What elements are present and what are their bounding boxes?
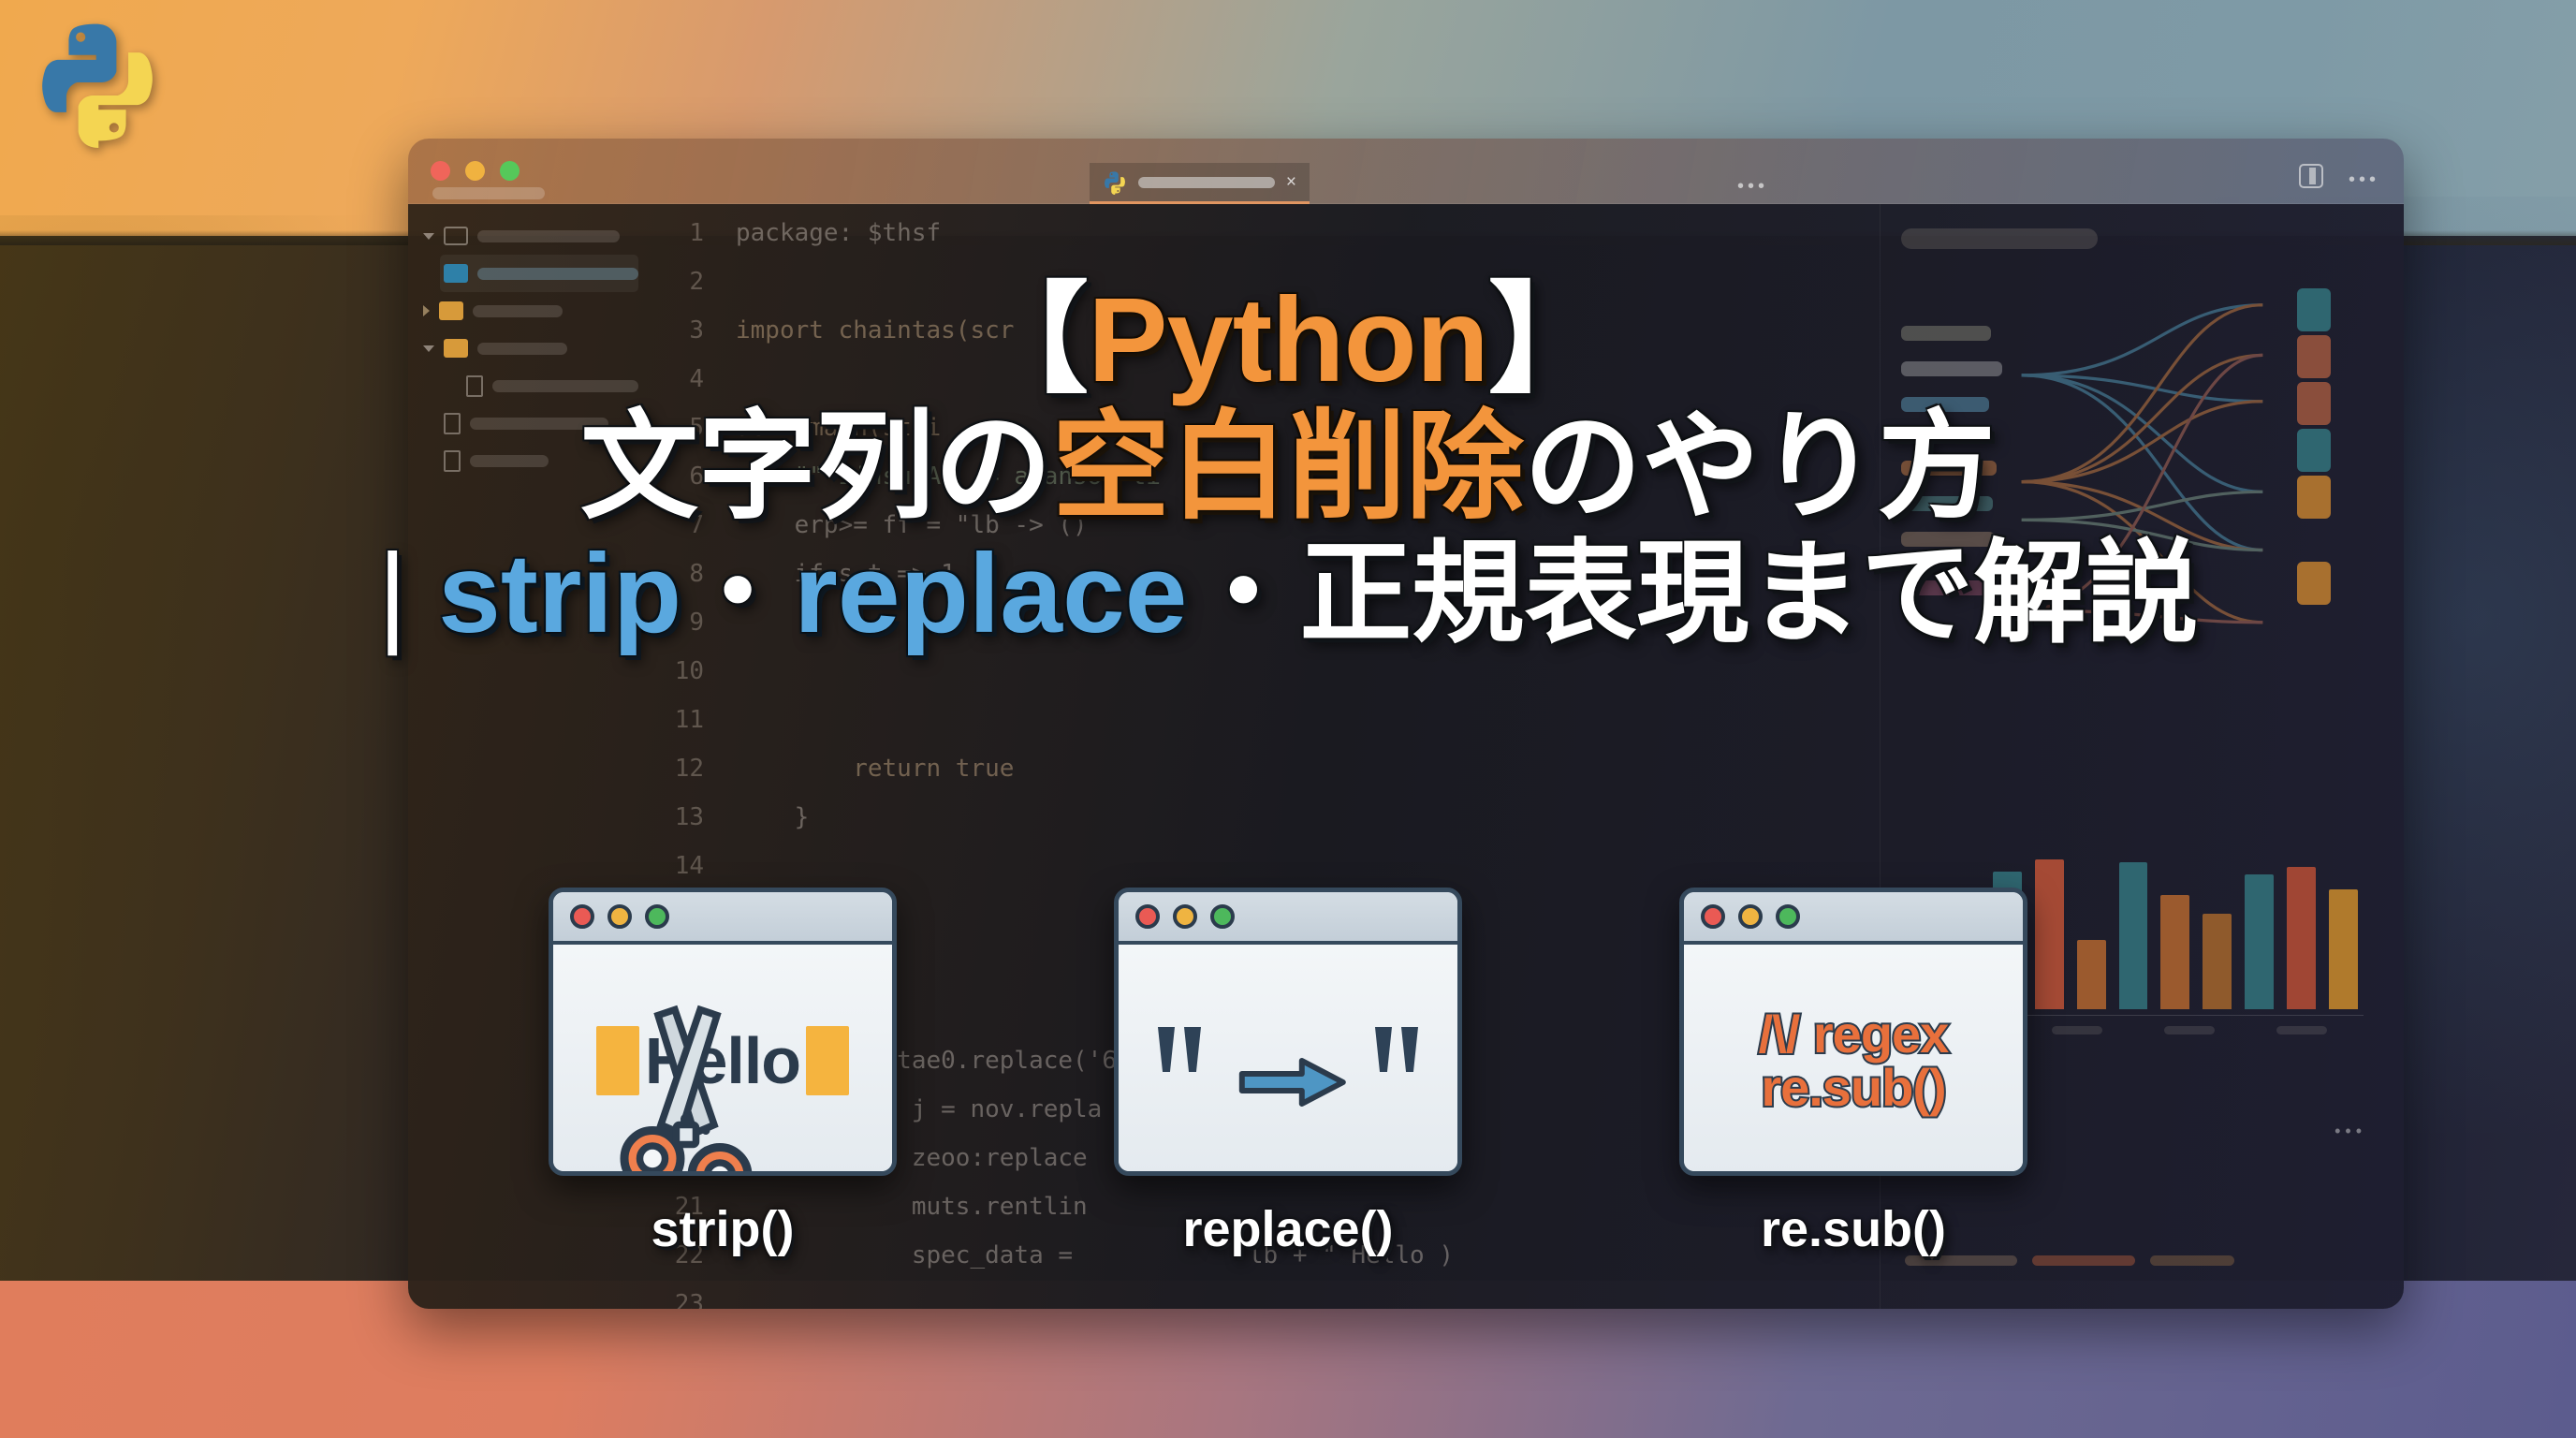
file-doc-icon: [444, 450, 461, 472]
minimize-yellow-dot-icon[interactable]: [465, 161, 485, 181]
window-controls[interactable]: [431, 161, 520, 181]
replace-caption: replace(): [1114, 1200, 1462, 1258]
list-item[interactable]: [419, 292, 638, 330]
code-row: 23: [650, 1290, 1880, 1309]
list-item[interactable]: [419, 217, 638, 255]
close-red-dot-icon: [1135, 904, 1160, 929]
folder-blue-icon: [444, 264, 468, 283]
python-logo-icon: [32, 17, 163, 148]
list-item[interactable]: [440, 442, 638, 479]
close-red-dot-icon: [1701, 904, 1725, 929]
file-name-placeholder: [477, 343, 567, 355]
card-window-titlebar: [553, 892, 892, 945]
chevron-right-icon[interactable]: [423, 305, 430, 316]
file-doc-icon: [466, 375, 483, 397]
line-number: 3: [650, 316, 736, 345]
line-number: 13: [650, 803, 736, 831]
strip-card-body: Hello: [553, 945, 892, 1176]
file-name-placeholder: [477, 230, 620, 242]
maximize-green-dot-icon[interactable]: [500, 161, 520, 181]
maximize-green-dot-icon: [1776, 904, 1800, 929]
folder-amber-icon: [444, 339, 468, 358]
arrow-right-icon: [1237, 1053, 1349, 1111]
file-name-placeholder: [473, 305, 563, 317]
code-row: 3import chaintas(scr: [650, 316, 1880, 365]
code-text: import chaintas(scr: [736, 316, 1014, 345]
regex-text-line-1: /\/ regex: [1759, 1007, 1949, 1061]
code-text: package: $thsf: [736, 219, 941, 247]
list-item[interactable]: [440, 255, 638, 292]
code-text: def _main(stri: [736, 414, 941, 442]
double-quote-right-icon: [1375, 1027, 1418, 1072]
sankey-right-node: [2297, 476, 2331, 519]
code-row: 6 """iinsu Ai = aransol ti: [650, 462, 1880, 511]
editor-titlebar: × ••• •••: [408, 139, 2404, 204]
maximize-green-dot-icon: [1210, 904, 1235, 929]
sankey-right-node: [2297, 382, 2331, 425]
sankey-right-node: [2297, 429, 2331, 472]
resub-caption: re.sub(): [1679, 1200, 2027, 1258]
line-number: 10: [650, 657, 736, 685]
code-row: 8 if s t => 1: [650, 560, 1880, 609]
code-text: """iinsu Ai = aransol ti: [736, 462, 1161, 491]
strip-card-window: Hello: [549, 888, 897, 1176]
folder-amber-icon: [439, 301, 463, 320]
code-row: 10: [650, 657, 1880, 706]
editor-tab-active[interactable]: ×: [1090, 163, 1310, 204]
panel-title-placeholder: [1901, 228, 2098, 249]
line-number: 12: [650, 755, 736, 783]
line-number: 14: [650, 852, 736, 880]
regex-illustration: /\/ regex re.sub(): [1759, 1007, 1949, 1114]
line-number: 6: [650, 462, 736, 491]
strip-caption: strip(): [549, 1200, 897, 1258]
code-text: }: [736, 803, 809, 831]
code-row: 7 erp>= ff = "lb -> (): [650, 511, 1880, 560]
line-number: 2: [650, 268, 736, 296]
minimize-yellow-dot-icon: [607, 904, 632, 929]
split-pane-icon[interactable]: [2299, 164, 2323, 188]
line-number: 1: [650, 219, 736, 247]
python-file-icon: [1103, 170, 1127, 195]
close-red-dot-icon[interactable]: [431, 161, 450, 181]
folder-outline-icon: [444, 227, 468, 245]
line-number: 8: [650, 560, 736, 588]
code-text: erp>= ff = "lb -> (): [736, 511, 1088, 539]
file-name-placeholder: [492, 380, 638, 392]
editor-overflow-icon[interactable]: •••: [1737, 176, 1768, 198]
line-number: 5: [650, 414, 736, 442]
feature-cards: Hello: [0, 888, 2576, 1258]
thumbnail-canvas: × ••• •••: [0, 0, 2576, 1438]
maximize-green-dot-icon: [645, 904, 669, 929]
chevron-down-icon[interactable]: [423, 345, 434, 352]
sankey-right-node: [2297, 335, 2331, 378]
code-row: 12 return true: [650, 755, 1880, 803]
code-row: 11: [650, 706, 1880, 755]
code-row: 1package: $thsf: [650, 219, 1880, 268]
list-item[interactable]: [419, 330, 638, 367]
regex-text-line-2: re.sub(): [1759, 1061, 1949, 1114]
list-item[interactable]: [440, 404, 638, 442]
code-text: if s t => 1: [736, 560, 956, 588]
replace-card-window: [1114, 888, 1462, 1176]
whitespace-block-right-icon: [806, 1026, 849, 1095]
editor-more-icon[interactable]: •••: [2349, 169, 2379, 191]
line-number: 11: [650, 706, 736, 734]
code-row: 4: [650, 365, 1880, 414]
card-window-titlebar: [1119, 892, 1457, 945]
list-item[interactable]: [462, 367, 638, 404]
titlebar-placeholder-pill: [432, 187, 545, 199]
line-number: 23: [650, 1290, 736, 1309]
replace-card: replace(): [1114, 888, 1462, 1258]
chevron-down-icon[interactable]: [423, 233, 434, 240]
resub-card-window: /\/ regex re.sub(): [1679, 888, 2027, 1176]
code-row: 2: [650, 268, 1880, 316]
replace-card-body: [1119, 945, 1457, 1176]
card-window-titlebar: [1684, 892, 2023, 945]
close-icon[interactable]: ×: [1286, 173, 1296, 191]
minimize-yellow-dot-icon: [1738, 904, 1763, 929]
code-row: 13 }: [650, 803, 1880, 852]
file-doc-icon: [444, 413, 461, 434]
file-name-placeholder: [477, 268, 638, 280]
minimize-yellow-dot-icon: [1173, 904, 1197, 929]
line-number: 9: [650, 609, 736, 637]
resub-card-body: /\/ regex re.sub(): [1684, 945, 2023, 1176]
tab-title-placeholder: [1138, 177, 1275, 188]
line-number: 4: [650, 365, 736, 393]
code-text: return true: [736, 755, 1014, 783]
double-quote-left-icon: [1158, 1027, 1201, 1072]
close-red-dot-icon: [570, 904, 594, 929]
sankey-diagram: [1901, 281, 2383, 646]
code-row: 5def _main(stri: [650, 414, 1880, 462]
scissors-icon: [602, 993, 770, 1176]
sankey-right-node: [2297, 288, 2331, 331]
code-row: 9: [650, 609, 1880, 657]
file-name-placeholder: [470, 418, 608, 430]
line-number: 7: [650, 511, 736, 539]
resub-card: /\/ regex re.sub() re.sub(): [1679, 888, 2027, 1258]
strip-card: Hello: [549, 888, 897, 1258]
file-name-placeholder: [470, 455, 549, 467]
sankey-right-node: [2297, 562, 2331, 605]
